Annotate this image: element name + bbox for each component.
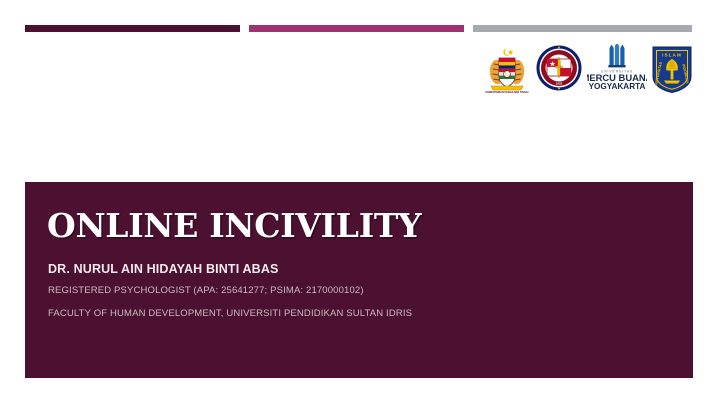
slide-title: ONLINE INCIVILITY: [47, 209, 421, 242]
logo-kementerian-pengajian-tinggi: KEMENTERIAN PENGAJIAN TINGGI: [482, 44, 532, 94]
presenter-affiliation: FACULTY OF HUMAN DEVELOPMENT, UNIVERSITI…: [48, 308, 412, 319]
logo-caption-kementerian: KEMENTERIAN PENGAJIAN TINGGI: [486, 91, 529, 94]
logo-universitas-islam-indonesia: ISLAM UNIVERSITAS INDONESIA: [650, 44, 694, 94]
logo-upsi: 1922: [535, 44, 583, 94]
title-block: ONLINE INCIVILITY DR. NURUL AIN HIDAYAH …: [25, 182, 693, 378]
presenter-credentials: REGISTERED PSYCHOLOGIST (APA: 25641277; …: [48, 285, 364, 296]
logo-mercu-buana-yogyakarta: UNIVERSITAS MERCU BUANA YOGYAKARTA: [587, 44, 647, 94]
logo-caption-islam: ISLAM: [662, 53, 682, 58]
presenter-name: DR. NURUL AIN HIDAYAH BINTI ABAS: [48, 262, 279, 276]
decor-bar-dark-maroon: [25, 25, 240, 32]
logo-caption-yogyakarta: YOGYAKARTA: [588, 82, 645, 90]
presentation-slide: KEMENTERIAN PENGAJIAN TINGGI: [0, 0, 720, 405]
decor-bar-gray: [473, 25, 692, 32]
svg-text:1922: 1922: [556, 82, 563, 86]
decor-bar-magenta: [249, 25, 464, 32]
logo-strip: KEMENTERIAN PENGAJIAN TINGGI: [482, 43, 694, 95]
